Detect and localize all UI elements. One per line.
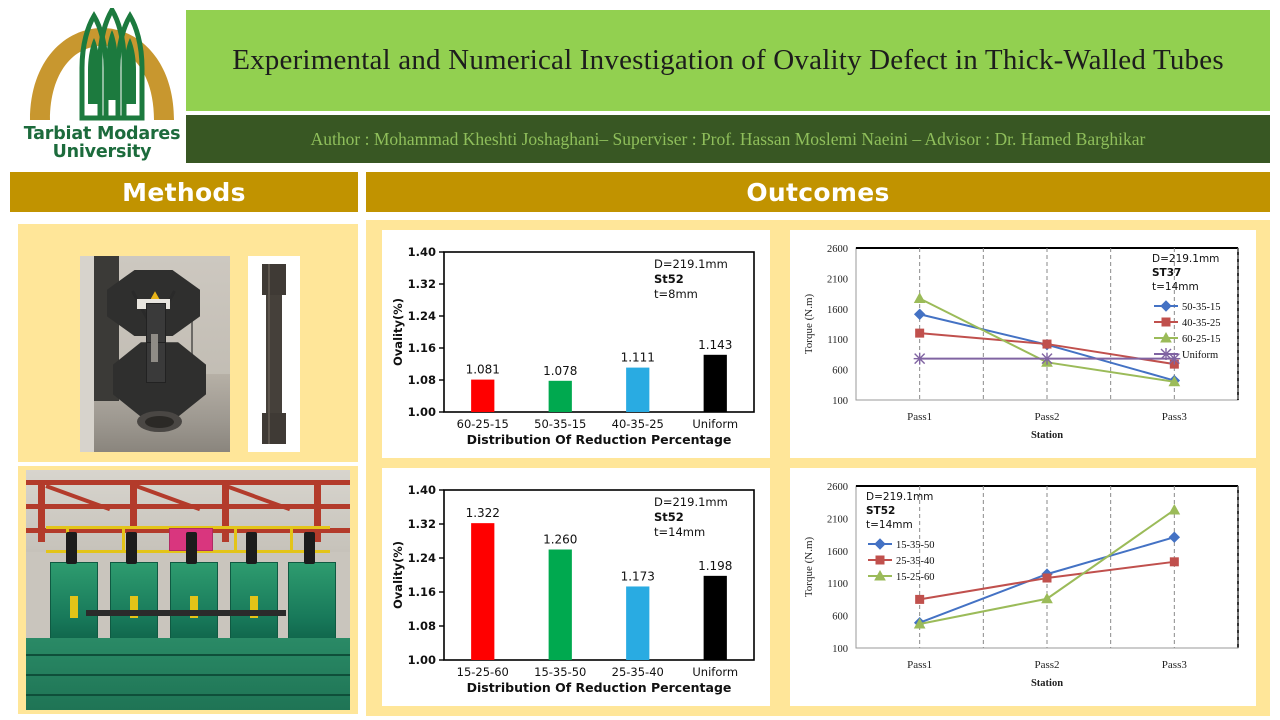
svg-text:50-35-15: 50-35-15 (1182, 302, 1221, 313)
svg-text:Ovality(%): Ovality(%) (391, 298, 405, 366)
svg-text:St52: St52 (654, 510, 684, 524)
chart-torque-st37-svg: 1006001100160021002600Torque (N.m)Pass1P… (790, 230, 1256, 458)
svg-text:1.08: 1.08 (408, 373, 436, 387)
svg-text:1100: 1100 (827, 335, 848, 346)
poster-author-bar: Author : Mohammad Kheshti Joshaghani– Su… (186, 115, 1270, 163)
svg-text:1.24: 1.24 (408, 551, 436, 565)
svg-text:Distribution Of Reduction Perc: Distribution Of Reduction Percentage (467, 432, 732, 447)
svg-text:1.322: 1.322 (466, 506, 500, 520)
svg-text:1.16: 1.16 (408, 585, 436, 599)
svg-text:60-25-15: 60-25-15 (457, 417, 509, 431)
svg-text:1.260: 1.260 (543, 533, 577, 547)
svg-text:Distribution Of Reduction Perc: Distribution Of Reduction Percentage (467, 680, 732, 695)
logo-line-2: University (22, 144, 182, 162)
svg-text:D=219.1mm: D=219.1mm (654, 495, 728, 509)
svg-text:Pass3: Pass3 (1162, 659, 1188, 671)
svg-text:60-25-15: 60-25-15 (1182, 334, 1221, 345)
svg-text:1.111: 1.111 (621, 351, 655, 365)
outcomes-column: 1.001.081.161.241.321.40Ovality(%)1.0816… (366, 220, 1270, 716)
logo-mark-icon (22, 8, 182, 126)
chart-ovality-t8-svg: 1.001.081.161.241.321.40Ovality(%)1.0816… (382, 230, 770, 458)
svg-text:1.40: 1.40 (408, 245, 436, 259)
svg-text:Torque (N.m): Torque (N.m) (803, 537, 815, 598)
svg-text:Pass2: Pass2 (1034, 411, 1059, 423)
svg-text:40-35-25: 40-35-25 (612, 417, 664, 431)
svg-text:1.00: 1.00 (408, 405, 436, 419)
poster-authors: Author : Mohammad Kheshti Joshaghani– Su… (311, 129, 1146, 150)
university-logo: Tarbiat Modares University (22, 8, 182, 163)
svg-text:t=14mm: t=14mm (654, 525, 705, 539)
svg-text:Uniform: Uniform (692, 665, 738, 679)
svg-text:2600: 2600 (827, 244, 848, 255)
section-header-methods-label: Methods (122, 178, 246, 207)
svg-text:Torque (N.m): Torque (N.m) (803, 294, 815, 355)
svg-text:1600: 1600 (827, 547, 848, 558)
svg-text:1.32: 1.32 (408, 277, 436, 291)
svg-text:Pass1: Pass1 (907, 659, 932, 671)
bar-1 (549, 381, 572, 412)
methods-panel-top (18, 224, 358, 462)
svg-text:1600: 1600 (827, 305, 848, 316)
bar-0 (471, 523, 494, 660)
bar-3 (704, 576, 727, 660)
svg-text:Pass2: Pass2 (1034, 659, 1059, 671)
svg-text:Pass1: Pass1 (907, 411, 932, 423)
svg-text:D=219.1mm: D=219.1mm (1152, 253, 1219, 265)
svg-text:600: 600 (832, 612, 848, 623)
chart-torque-st52: 1006001100160021002600Torque (N.m)Pass1P… (790, 468, 1256, 706)
svg-text:1.00: 1.00 (408, 653, 436, 667)
bar-2 (626, 586, 649, 660)
svg-text:100: 100 (832, 644, 848, 655)
svg-text:1.24: 1.24 (408, 309, 436, 323)
svg-text:1.16: 1.16 (408, 341, 436, 355)
poster-header: Tarbiat Modares University Experimental … (0, 0, 1280, 168)
svg-text:1.081: 1.081 (466, 363, 500, 377)
svg-text:2100: 2100 (827, 514, 848, 525)
chart-torque-st37: 1006001100160021002600Torque (N.m)Pass1P… (790, 230, 1256, 458)
svg-text:Uniform: Uniform (1182, 350, 1218, 361)
bar-0 (471, 380, 494, 412)
svg-text:100: 100 (832, 396, 848, 407)
chart-ovality-t14-svg: 1.001.081.161.241.321.40Ovality(%)1.3221… (382, 468, 770, 706)
svg-text:2600: 2600 (827, 482, 848, 493)
svg-text:t=14mm: t=14mm (866, 519, 913, 531)
svg-text:1.078: 1.078 (543, 364, 577, 378)
svg-text:ST37: ST37 (1152, 267, 1181, 279)
svg-text:15-35-50: 15-35-50 (534, 665, 586, 679)
tensile-specimen-photo (248, 256, 300, 452)
svg-text:1.173: 1.173 (621, 569, 655, 583)
poster-root: Tarbiat Modares University Experimental … (0, 0, 1280, 720)
svg-text:Uniform: Uniform (692, 417, 738, 431)
svg-text:Pass3: Pass3 (1162, 411, 1188, 423)
bar-1 (549, 550, 572, 661)
svg-text:Station: Station (1031, 430, 1063, 441)
svg-text:40-35-25: 40-35-25 (1182, 318, 1221, 329)
tensile-testing-machine-photo (80, 256, 230, 452)
svg-text:15-35-50: 15-35-50 (896, 540, 935, 551)
section-header-methods: Methods (10, 172, 358, 212)
logo-wordmark: Tarbiat Modares University (22, 126, 182, 162)
svg-text:D=219.1mm: D=219.1mm (866, 491, 933, 503)
svg-text:1100: 1100 (827, 579, 848, 590)
svg-text:t=14mm: t=14mm (1152, 281, 1199, 293)
chart-torque-st52-svg: 1006001100160021002600Torque (N.m)Pass1P… (790, 468, 1256, 706)
svg-text:t=8mm: t=8mm (654, 287, 698, 301)
chart-ovality-t8: 1.001.081.161.241.321.40Ovality(%)1.0816… (382, 230, 770, 458)
svg-text:Ovality(%): Ovality(%) (391, 541, 405, 609)
chart-ovality-t14: 1.001.081.161.241.321.40Ovality(%)1.3221… (382, 468, 770, 706)
section-header-outcomes-label: Outcomes (746, 178, 889, 207)
svg-text:Station: Station (1031, 678, 1063, 689)
bar-2 (626, 368, 649, 412)
svg-text:2100: 2100 (827, 274, 848, 285)
bar-3 (704, 355, 727, 412)
svg-text:1.198: 1.198 (698, 559, 732, 573)
svg-text:ST52: ST52 (866, 505, 895, 517)
section-header-outcomes: Outcomes (366, 172, 1270, 212)
svg-text:600: 600 (832, 366, 848, 377)
svg-text:50-35-15: 50-35-15 (534, 417, 586, 431)
methods-column (10, 220, 358, 712)
svg-text:25-35-40: 25-35-40 (896, 556, 935, 567)
svg-text:1.143: 1.143 (698, 338, 732, 352)
svg-text:25-35-40: 25-35-40 (612, 665, 664, 679)
svg-text:15-25-60: 15-25-60 (896, 572, 935, 583)
svg-text:1.32: 1.32 (408, 517, 436, 531)
svg-text:1.40: 1.40 (408, 483, 436, 497)
poster-title: Experimental and Numerical Investigation… (214, 43, 1242, 78)
methods-panel-bottom (18, 466, 358, 714)
poster-title-bar: Experimental and Numerical Investigation… (186, 10, 1270, 111)
svg-text:1.08: 1.08 (408, 619, 436, 633)
svg-text:15-25-60: 15-25-60 (457, 665, 509, 679)
svg-text:D=219.1mm: D=219.1mm (654, 257, 728, 271)
stretch-reducing-mill-photo (26, 470, 350, 710)
svg-text:St52: St52 (654, 272, 684, 286)
